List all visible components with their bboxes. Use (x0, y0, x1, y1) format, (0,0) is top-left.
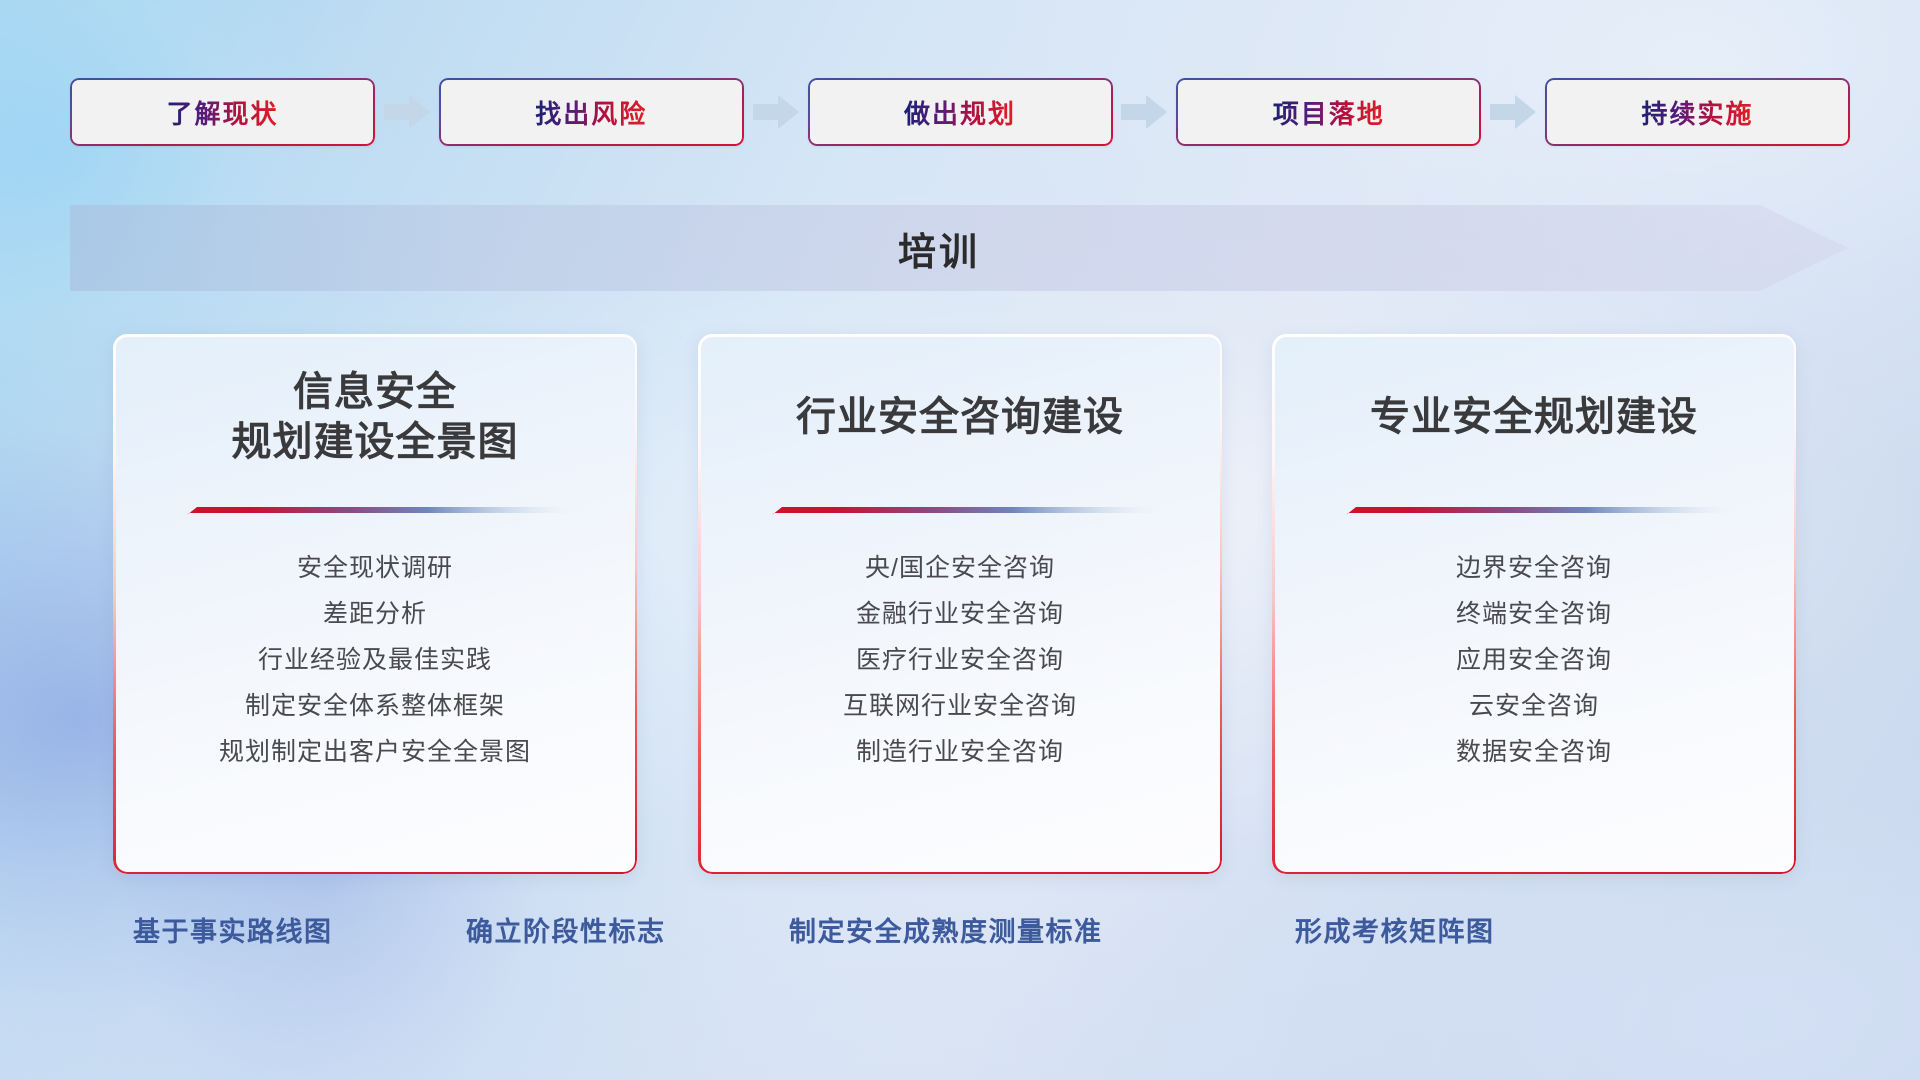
card-1-list: 安全现状调研 差距分析 行业经验及最佳实践 制定安全体系整体框架 规划制定出客户… (113, 552, 637, 768)
card-information-security-panorama[interactable]: 信息安全 规划建设全景图 (113, 334, 637, 874)
arrow-right-icon (384, 95, 430, 129)
step-box-5[interactable]: 持续实施 (1545, 78, 1850, 146)
card-3-title-line-1: 专业安全规划建设 (1370, 393, 1698, 443)
card-3-header: 专业安全规划建设 (1272, 334, 1796, 502)
list-item: 行业经验及最佳实践 (258, 644, 492, 676)
step-arrow-1 (375, 95, 439, 129)
list-item: 医疗行业安全咨询 (856, 644, 1064, 676)
card-1-header: 信息安全 规划建设全景图 (113, 334, 637, 502)
list-item: 制造行业安全咨询 (856, 736, 1064, 768)
step-box-2[interactable]: 找出风险 (439, 78, 744, 146)
card-1-title: 信息安全 规划建设全景图 (232, 368, 519, 467)
step-arrow-2 (744, 95, 808, 129)
outcome-label-3: 制定安全成熟度测量标准 (789, 910, 1103, 949)
list-item: 金融行业安全咨询 (856, 598, 1064, 630)
card-3-list: 边界安全咨询 终端安全咨询 应用安全咨询 云安全咨询 数据安全咨询 (1272, 552, 1796, 768)
list-item: 云安全咨询 (1469, 690, 1599, 722)
card-2-divider (698, 504, 1222, 518)
card-1-title-line-2: 规划建设全景图 (232, 418, 519, 468)
gradient-rule-icon (1334, 504, 1734, 518)
step-box-3[interactable]: 做出规划 (808, 78, 1113, 146)
list-item: 数据安全咨询 (1456, 736, 1612, 768)
card-1-divider (113, 504, 637, 518)
step-arrow-3 (1113, 95, 1177, 129)
step-arrow-4 (1481, 95, 1545, 129)
step-box-1[interactable]: 了解现状 (70, 78, 375, 146)
outcome-label-row: 基于事实路线图 确立阶段性标志 制定安全成熟度测量标准 形成考核矩阵图 (0, 910, 1920, 960)
outcome-label-1: 基于事实路线图 (133, 910, 333, 949)
step-box-4[interactable]: 项目落地 (1176, 78, 1481, 146)
list-item: 规划制定出客户安全全景图 (219, 736, 531, 768)
list-item: 央/国企安全咨询 (865, 552, 1055, 584)
banner-title: 培训 (70, 205, 1848, 291)
list-item: 差距分析 (323, 598, 427, 630)
card-2-list: 央/国企安全咨询 金融行业安全咨询 医疗行业安全咨询 互联网行业安全咨询 制造行… (698, 552, 1222, 768)
arrow-right-icon (1490, 95, 1536, 129)
arrow-right-icon (1121, 95, 1167, 129)
step-label-3: 做出规划 (904, 94, 1016, 131)
card-industry-security-consulting[interactable]: 行业安全咨询建设 (698, 334, 1222, 874)
list-item: 终端安全咨询 (1456, 598, 1612, 630)
list-item: 制定安全体系整体框架 (245, 690, 505, 722)
card-2-header: 行业安全咨询建设 (698, 334, 1222, 502)
gradient-rule-icon (760, 504, 1160, 518)
card-1-title-line-1: 信息安全 (232, 368, 519, 418)
training-banner: 培训 (70, 205, 1848, 291)
process-step-row: 了解现状 找出风险 做出规划 项目落地 (70, 78, 1850, 146)
card-3-divider (1272, 504, 1796, 518)
step-label-4: 项目落地 (1273, 94, 1385, 131)
step-label-5: 持续实施 (1641, 94, 1753, 131)
gradient-rule-icon (175, 504, 575, 518)
card-3-title: 专业安全规划建设 (1370, 393, 1698, 443)
card-professional-security-planning[interactable]: 专业安全规划建设 (1272, 334, 1796, 874)
list-item: 互联网行业安全咨询 (843, 690, 1077, 722)
card-row: 信息安全 规划建设全景图 (0, 334, 1920, 874)
card-2-title: 行业安全咨询建设 (796, 393, 1124, 443)
list-item: 安全现状调研 (297, 552, 453, 584)
step-label-1: 了解现状 (166, 94, 278, 131)
arrow-right-icon (753, 95, 799, 129)
outcome-label-4: 形成考核矩阵图 (1295, 910, 1495, 949)
outcome-label-2: 确立阶段性标志 (466, 910, 666, 949)
list-item: 应用安全咨询 (1456, 644, 1612, 676)
card-2-title-line-1: 行业安全咨询建设 (796, 393, 1124, 443)
list-item: 边界安全咨询 (1456, 552, 1612, 584)
step-label-2: 找出风险 (535, 94, 647, 131)
